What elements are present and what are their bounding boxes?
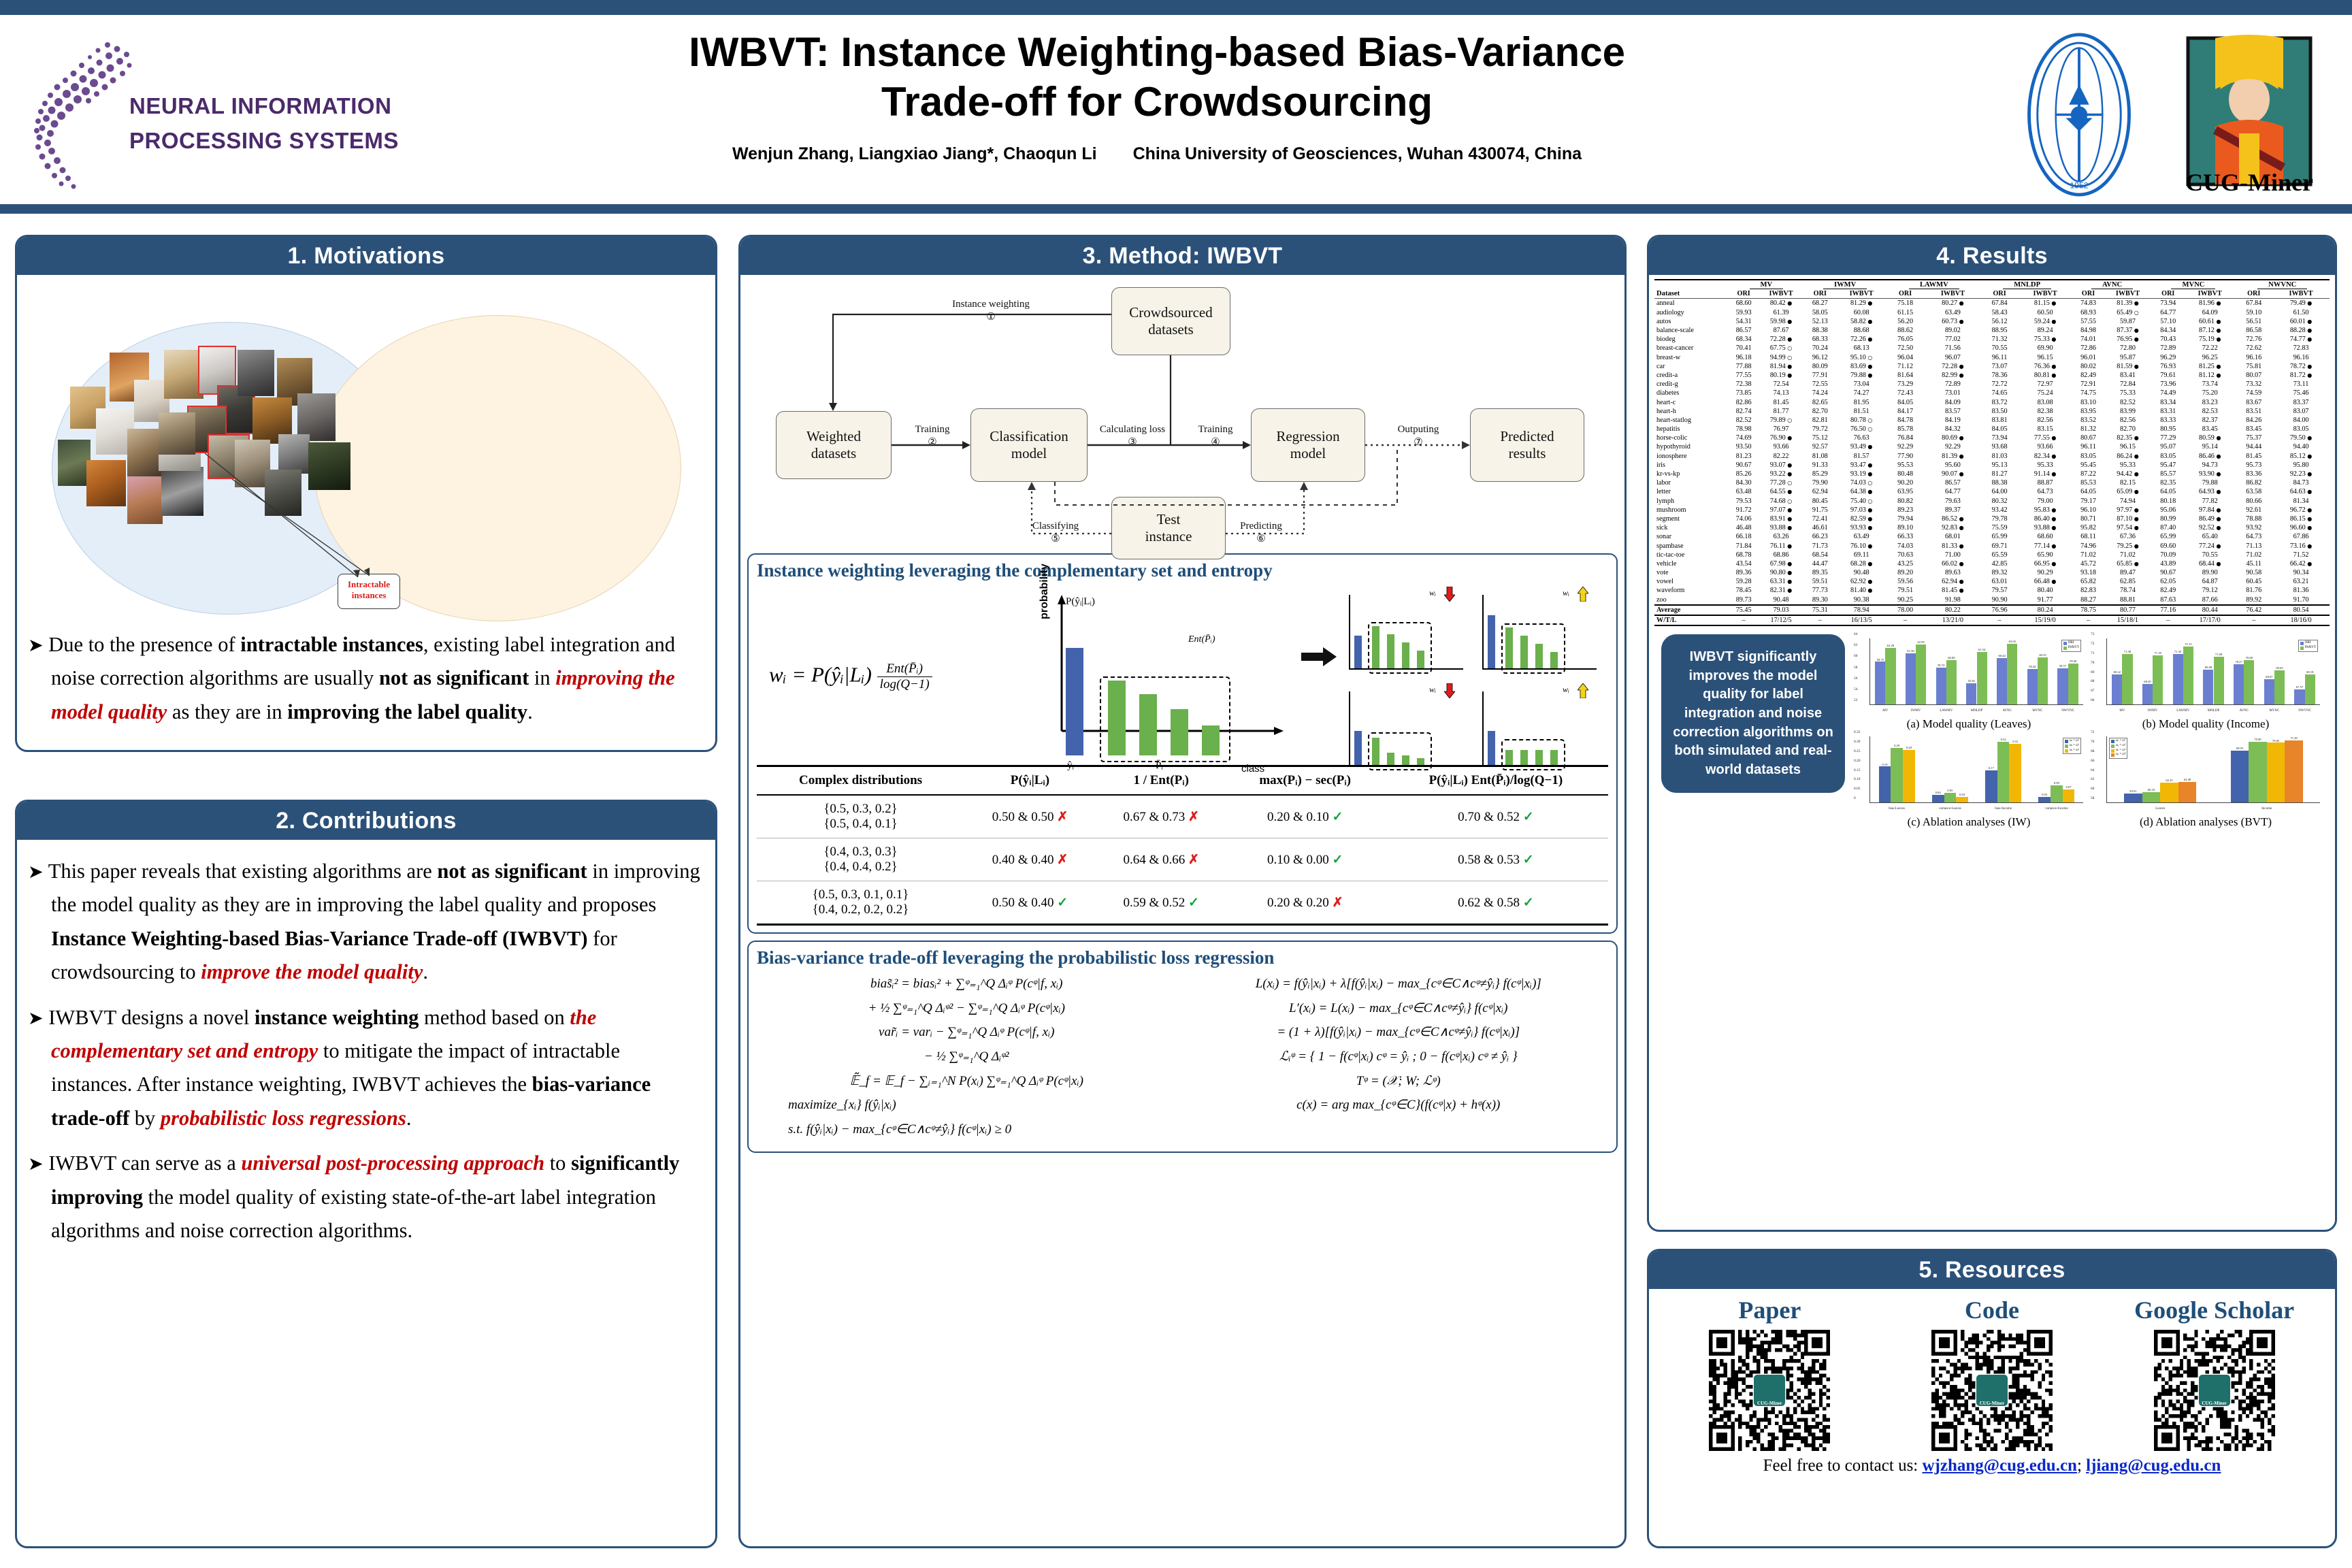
result-cell: 80.69 ● [1924, 434, 1981, 442]
marker-filled-circle: ● [2134, 453, 2139, 459]
marker-filled-circle: ● [1959, 453, 1964, 459]
bar-value-label: 70.27 [2235, 660, 2242, 664]
result-cell: 70.43 [2152, 335, 2185, 344]
marker-filled-circle: ● [1867, 336, 1872, 342]
figure-caption: (d) Ablation analyses (BVT) [2089, 815, 2323, 829]
dataset-name: heart-statlog [1654, 416, 1729, 425]
sub-ori-2: ORI [1803, 289, 1836, 299]
y-tick-label: 54 [1854, 687, 1857, 691]
mini-chart-3: wᵢ [1349, 685, 1470, 766]
bar-ωᵢ = ω³-variance-Leaves [1956, 797, 1968, 802]
marker-open-circle: ○ [1867, 498, 1872, 504]
table-row: iris90.6793.07 ●91.3393.47 ●95.5395.6095… [1654, 461, 2330, 470]
results-lower: IWBVT significantly improves the model q… [1654, 626, 2330, 832]
result-cell: 95.87 [2104, 353, 2151, 362]
result-cell: 87.40 [2152, 523, 2185, 532]
result-cell: 58.05 [1803, 308, 1836, 317]
contact-sep: ; [2077, 1456, 2086, 1475]
resource-paper[interactable]: Paper CUG-Miner [1674, 1296, 1865, 1451]
result-cell: 75.12 [1803, 434, 1836, 442]
qr-label-scholar: CUG-Miner [2202, 1401, 2227, 1406]
bvt-eq-l5: maximize_{xᵢ} f(ŷᵢ|xᵢ) [757, 1096, 1177, 1114]
cd-r2-c2: 0.59 & 0.52 ✓ [1096, 881, 1227, 925]
marker-open-circle: ○ [1867, 417, 1872, 423]
marker-filled-circle: ● [2216, 435, 2221, 441]
bar-IWBVT-MVNC [2274, 670, 2285, 705]
wtl-cell: – [2073, 615, 2104, 625]
result-cell: 64.73 [2235, 532, 2272, 541]
bar-ORI-MVNC [2027, 669, 2038, 704]
wtl-cell: – [1886, 615, 1924, 625]
contribution-bullet-3: ➤ IWBVT can serve as a universal post-pr… [28, 1147, 704, 1247]
result-cell: 84.26 [2235, 416, 2272, 425]
table-row: horse-colic74.6976.90 ●75.1276.6376.8480… [1654, 434, 2330, 442]
result-cell: 77.28 ○ [1759, 478, 1803, 487]
result-cell: 81.32 [2073, 425, 2104, 434]
plot-fig-b: 666768697071727369.2271.38MV68.2071.18IW… [2089, 634, 2323, 716]
group-label-mv: MV [1750, 281, 1784, 289]
result-cell: 96.11 [1982, 353, 2018, 362]
dataset-name: mushroom [1654, 506, 1729, 514]
wtl-cell: – [1803, 615, 1836, 625]
bar-value-label: 71.08 [2215, 653, 2222, 656]
resources-body: Paper CUG-Miner Code CUG-Miner Google Sc… [1649, 1289, 2335, 1475]
legend-item: ωᵢ = ω² [2065, 744, 2079, 749]
result-cell: 95.73 [2235, 461, 2272, 470]
neurips-wordmark: NEURAL INFORMATION PROCESSING SYSTEMS [129, 88, 415, 158]
wtl-cell: – [1982, 615, 2018, 625]
result-cell: 96.16 [2235, 353, 2272, 362]
result-cell: 80.18 [2152, 497, 2185, 506]
mark-check: ✓ [1188, 896, 1199, 910]
result-cell: 96.15 [2018, 353, 2073, 362]
bvt-eq-l4: 𝔼̃_f = 𝔼_f − ∑ᵢ₌₁^N P(xᵢ) ∑ᵠ₌₁^Q Δᵢᵠ P(c… [757, 1073, 1177, 1090]
marker-filled-circle: ● [1787, 489, 1792, 495]
result-cell: 79.72 [1803, 425, 1836, 434]
result-cell: 95.82 [2073, 523, 2104, 532]
plot-fig-a: 5254565860626459.7562.28MV61.3062.95IWMV… [1852, 634, 2086, 716]
result-cell: 84.78 [1886, 416, 1924, 425]
bvt-eq-r1: L′(xᵢ) = L(xᵢ) − max_{cᵠ∈C∧cᵠ≠ŷᵢ} f(cᵠ|x… [1189, 1000, 1609, 1017]
result-cell: 74.06 [1729, 514, 1758, 523]
result-cell: 76.84 [1886, 434, 1924, 442]
legend-label: ωᵢ = ω² [2070, 744, 2079, 749]
result-cell: 77.90 [1886, 452, 1924, 461]
dataset-name: hypothyroid [1654, 442, 1729, 451]
result-cell: 79.88 ● [1836, 371, 1886, 380]
result-cell: 83.45 [2185, 425, 2235, 434]
y-tick-label: 72 [2091, 730, 2094, 734]
result-cell: 79.51 [1886, 586, 1924, 595]
result-cell: 92.61 [2235, 506, 2272, 514]
marker-filled-circle: ● [1787, 300, 1792, 306]
result-cell: 64.77 [2152, 308, 2185, 317]
marker-open-circle: ○ [1787, 355, 1792, 361]
legend: ωᵢ = ω¹ωᵢ = ω²ωᵢ = ω³ [2063, 738, 2081, 754]
bar-ORI-LAWMV [2173, 654, 2183, 704]
cd-r2-c3-val: 0.20 & 0.20 [1267, 896, 1329, 910]
result-cell: 72.83 [2272, 344, 2330, 353]
result-cell: 74.69 [1729, 434, 1758, 442]
marker-filled-circle: ● [2051, 561, 2056, 567]
edge-num-2: ② [928, 437, 936, 448]
result-cell: 82.49 [2073, 371, 2104, 380]
marker-filled-circle: ● [1787, 543, 1792, 549]
legend-label: ωᵢ = ω³ [2070, 749, 2079, 753]
chart-y-axis-label: probability [1039, 563, 1051, 619]
marker-filled-circle: ● [2307, 453, 2312, 459]
marker-filled-circle: ● [1787, 471, 1792, 477]
bar-IWBVT-MV [2122, 654, 2132, 705]
marker-filled-circle: ● [1787, 570, 1792, 576]
cd-r2-c4-val: 0.62 & 0.58 [1458, 896, 1520, 910]
result-cell: 82.31 ● [1759, 586, 1803, 595]
flow-edge-label-6: Predicting ⑥ [1224, 520, 1298, 546]
table-row: audiology59.9361.3958.0560.0861.1563.495… [1654, 308, 2330, 317]
table-row: biodeg68.3472.28 ●68.3372.26 ●76.0577.02… [1654, 335, 2330, 344]
bar-value-label: 71.38 [2124, 650, 2131, 653]
result-cell: 83.41 [2104, 371, 2151, 380]
marker-filled-circle: ● [1959, 561, 1964, 567]
result-cell: 79.12 [2185, 586, 2235, 595]
result-cell: 68.33 [1803, 335, 1836, 344]
result-cell: 65.85 ● [2104, 559, 2151, 568]
bvt-equations: bias̃ᵢ² = biasᵢ² + ∑ᵠ₌₁^Q Δᵢᵠ P(cᵠ|f, xᵢ… [757, 968, 1608, 1145]
bullet-arrow-icon: ➤ [28, 1154, 44, 1175]
result-cell: 81.39 ● [1924, 452, 1981, 461]
result-cell: 83.72 [1982, 397, 2018, 406]
bar-ORI-AVNC [1997, 658, 2007, 704]
result-cell: 94.42 ● [2104, 470, 2151, 478]
result-cell: 93.92 [2235, 523, 2272, 532]
figure-caption: (a) Model quality (Leaves) [1852, 717, 2086, 731]
bar-ORI-MV [1875, 661, 1885, 704]
figure-fig-c: 00.050.100.150.200.250.300.350.190.290.2… [1852, 732, 2086, 829]
result-cell: 59.87 [2104, 317, 2151, 326]
bar-ORI-LAWMV [1936, 668, 1946, 704]
legend-label: IWBVT [2068, 646, 2079, 651]
result-cell: 93.88 ● [2018, 523, 2073, 532]
result-cell: 88.95 [1982, 326, 2018, 335]
bar-value-label: 0.05 [1947, 789, 1953, 792]
result-cell: 75.81 [2235, 362, 2272, 371]
result-cell: 73.74 [2185, 380, 2235, 389]
bar-value-label: 69.68 [2205, 666, 2212, 669]
marker-filled-circle: ● [2216, 489, 2221, 495]
result-cell: 71.02 [2073, 551, 2104, 559]
result-cell: 88.68 [1836, 326, 1886, 335]
result-cell: 56.20 [1886, 317, 1924, 326]
neurips-line1: NEURAL INFORMATION [129, 88, 415, 123]
figure-fig-a: 5254565860626459.7562.28MV61.3062.95IWMV… [1852, 634, 2086, 731]
cb1-b1: not as significant [437, 860, 587, 883]
cd-r1-dist1: {0.4, 0.3, 0.3} [759, 845, 962, 860]
y-tick-label: 68 [2091, 679, 2094, 683]
flow-edge-label-4: Training ④ [1180, 423, 1251, 449]
result-cell: 95.33 [2104, 461, 2151, 470]
marker-filled-circle: ● [1959, 363, 1964, 370]
bar-value-label: 60.09 [1948, 656, 1955, 659]
contributions-body: ➤ This paper reveals that existing algor… [17, 840, 715, 1254]
results-group-iwmv: IWMV [1803, 280, 1886, 289]
result-cell: 84.09 [1924, 397, 1981, 406]
cb2-p2: method based on [419, 1006, 570, 1029]
qr-code-paper[interactable]: CUG-Miner [1709, 1330, 1830, 1451]
cd-r1-dist2: {0.4, 0.4, 0.2} [759, 860, 962, 875]
marker-filled-circle: ● [1867, 444, 1872, 450]
bullet-arrow-icon: ➤ [28, 635, 44, 656]
marker-open-circle: ○ [1787, 417, 1792, 423]
result-cell: 43.89 [2152, 559, 2185, 568]
bar-IWBVT-IWMV [2153, 655, 2163, 704]
average-cell: 75.45 [1729, 605, 1758, 615]
section-contributions: 2. Contributions ➤ This paper reveals th… [15, 800, 717, 1548]
poster-root: NEURAL INFORMATION PROCESSING SYSTEMS IW… [0, 0, 2352, 1568]
dataset-name: kr-vs-kp [1654, 470, 1729, 478]
result-cell: 97.07 ● [1759, 506, 1803, 514]
result-cell: 86.49 ● [2185, 514, 2235, 523]
x-tick-label: MV [1882, 709, 1888, 713]
marker-filled-circle: ● [1867, 462, 1872, 468]
bar-value-label: 71.18 [2155, 651, 2161, 655]
marker-open-circle: ○ [1787, 345, 1792, 351]
marker-filled-circle: ● [1787, 516, 1792, 522]
sub-iwbvt-5: IWBVT [2104, 289, 2151, 299]
marker-filled-circle: ● [1787, 525, 1792, 531]
result-cell: 67.84 [2235, 299, 2272, 308]
result-cell: 88.87 [2018, 478, 2073, 487]
edge-num-6: ⑥ [1256, 534, 1265, 544]
marker-filled-circle: ● [1787, 587, 1792, 593]
result-cell: 71.13 [2235, 541, 2272, 550]
cb1-r1: improve the model quality [201, 960, 423, 983]
result-cell: 75.19 ● [2185, 335, 2235, 344]
result-cell: 93.88 ● [1759, 523, 1803, 532]
flow-edge-label-5: Classifying ⑤ [1018, 520, 1093, 546]
dataset-name: credit-g [1654, 380, 1729, 389]
result-cell: 59.10 [2235, 308, 2272, 317]
dataset-name: anneal [1654, 299, 1729, 308]
result-cell: 59.98 ● [1759, 317, 1803, 326]
result-cell: 86.82 [2235, 478, 2272, 487]
result-cell: 83.07 [2272, 407, 2330, 416]
y-tick-label: 72 [2091, 642, 2094, 646]
marker-filled-circle: ● [1867, 300, 1872, 306]
result-cell: 77.55 ● [2018, 434, 2073, 442]
thumb-dog-7 [86, 460, 126, 506]
result-cell: 82.65 [1803, 397, 1836, 406]
dataset-name: balance-scale [1654, 326, 1729, 335]
result-cell: 74.01 [2073, 335, 2104, 344]
marker-filled-circle: ● [2216, 453, 2221, 459]
result-cell: 79.78 [1982, 514, 2018, 523]
result-cell: 71.52 [2272, 551, 2330, 559]
mini4-weight-label: wᵢ [1563, 685, 1569, 695]
result-cell: 73.01 [1924, 389, 1981, 397]
result-cell: 45.72 [2073, 559, 2104, 568]
result-cell: 81.45 [2235, 452, 2272, 461]
result-cell: 83.50 [1982, 407, 2018, 416]
result-cell: 72.55 [1803, 380, 1836, 389]
bar-ωᵢ = ω¹-Leaves [2124, 794, 2142, 802]
resource-title-scholar: Google Scholar [2119, 1296, 2310, 1324]
flow-edge-label-1: Instance weighting ① [916, 298, 1066, 324]
bar-value-label: 71.20 [2290, 736, 2297, 740]
marker-filled-circle: ● [2216, 300, 2221, 306]
cd-r1-c2-val: 0.64 & 0.66 [1123, 853, 1185, 867]
wtl-cell: – [1729, 615, 1758, 625]
wtl-cell: 17/17/0 [2185, 615, 2235, 625]
marker-filled-circle: ● [1867, 578, 1872, 585]
result-cell: 83.36 [2235, 470, 2272, 478]
y-tick-label: 56 [1854, 676, 1857, 681]
cd-r0-dist1: {0.5, 0.3, 0.2} [759, 802, 962, 817]
result-cell: 75.20 [2185, 389, 2235, 397]
mini-chart-1: wᵢ [1349, 588, 1470, 670]
result-cell: 83.69 ● [1836, 362, 1886, 371]
result-cell: 75.24 [2018, 389, 2073, 397]
marker-filled-circle: ● [1959, 471, 1964, 477]
qr-code-scholar[interactable]: CUG-Miner [2154, 1330, 2275, 1451]
results-subheader-row: ORIIWBVT ORIIWBVT ORIIWBVT ORIIWBVT ORII… [1654, 289, 2330, 299]
plot-axis: 5254565860626459.7562.28MV61.3062.95IWMV… [1869, 638, 2083, 705]
bar-ORI-MVNC [2264, 679, 2274, 704]
result-cell: 66.18 [1729, 532, 1758, 541]
result-cell: 90.67 [1729, 461, 1758, 470]
group-label-nwvnc: NWVNC [2257, 281, 2307, 289]
marker-filled-circle: ● [1867, 318, 1872, 325]
cb2-p1: IWBVT designs a novel [48, 1006, 255, 1029]
dataset-name: vote [1654, 568, 1729, 577]
result-cell: 76.97 [1759, 425, 1803, 434]
plot-fig-c: 00.050.100.150.200.250.300.350.190.290.2… [1852, 732, 2086, 814]
result-cell: 66.95 ● [2018, 559, 2073, 568]
marker-filled-circle: ● [2051, 543, 2056, 549]
result-cell: 78.74 [2104, 586, 2151, 595]
email-link-2[interactable]: ljiang@cug.edu.cn [2086, 1456, 2221, 1475]
result-cell: 96.60 ● [2272, 523, 2330, 532]
arrow-down-red-icon [1444, 683, 1455, 698]
result-cell: 75.59 [1982, 523, 2018, 532]
sub-ori-5: ORI [2073, 289, 2104, 299]
edge-label-instance-weighting: Instance weighting [952, 299, 1030, 310]
marker-filled-circle: ● [1959, 587, 1964, 593]
mark-x: ✗ [1332, 896, 1343, 910]
group-label-lawmv: LAWMV [1909, 281, 1959, 289]
bar-value-label: 58.57 [2059, 664, 2066, 668]
resource-code[interactable]: Code CUG-Miner [1897, 1296, 2087, 1451]
bar-value-label: 61.54 [1978, 648, 1985, 651]
y-tick-label: 0.35 [1854, 730, 1860, 734]
result-cell: 65.99 [1982, 532, 2018, 541]
result-cell: 83.23 [2185, 397, 2235, 406]
average-cell: 78.75 [2073, 605, 2104, 615]
bar-ωᵢ = ω³-Income [2267, 742, 2285, 802]
iwbvt-flowchart: Crowdsourceddatasets Weighteddatasets Cl… [747, 280, 1612, 549]
result-cell: 81.27 [1982, 470, 2018, 478]
intractable-arrows [184, 448, 389, 584]
result-cell: 97.54 ● [2104, 523, 2151, 532]
table-row: heart-h82.7481.7782.7081.5184.1783.5783.… [1654, 407, 2330, 416]
result-cell: 84.05 [1886, 397, 1924, 406]
result-cell: 72.89 [2152, 344, 2185, 353]
result-cell: 84.98 [2073, 326, 2104, 335]
result-cell: 88.81 [2104, 595, 2151, 605]
result-cell: 90.48 [1836, 568, 1886, 577]
result-cell: 83.57 [1924, 407, 1981, 416]
result-cell: 70.55 [1982, 344, 2018, 353]
result-cell: 78.36 [1982, 371, 2018, 380]
cd-r2-c3: 0.20 & 0.20 ✗ [1227, 881, 1384, 925]
result-cell: 81.40 ● [1836, 586, 1886, 595]
result-cell: 95.53 [1886, 461, 1924, 470]
result-cell: 96.16 [2272, 353, 2330, 362]
result-cell: 73.94 [1982, 434, 2018, 442]
thumb-dog-5 [127, 429, 163, 478]
result-cell: 74.94 [2104, 497, 2151, 506]
authors: Wenjun Zhang, Liangxiao Jiang*, Chaoqun … [732, 144, 1097, 163]
result-cell: 45.11 [2235, 559, 2272, 568]
result-cell: 64.38 ● [1836, 487, 1886, 496]
marker-filled-circle: ● [2307, 489, 2312, 495]
email-link-1[interactable]: wjzhang@cug.edu.cn [1923, 1456, 2077, 1475]
result-cell: 93.90 ● [2185, 470, 2235, 478]
table-row: labor84.3077.28 ○79.9074.03 ○90.2086.578… [1654, 478, 2330, 487]
marker-filled-circle: ● [1867, 471, 1872, 477]
cug-miner-label: CUG-Miner [2164, 168, 2334, 197]
bar-ORI-MV [2112, 674, 2122, 705]
result-cell: 86.15 ● [2272, 514, 2330, 523]
cd-th-1: P(ŷᵢ|Lᵢ) [964, 766, 1096, 796]
cd-r0-c4: 0.70 & 0.52 ✓ [1384, 795, 1608, 838]
result-cell: 59.56 [1886, 577, 1924, 586]
mb1-p3: in [529, 666, 555, 689]
result-cell: 92.29 [1924, 442, 1981, 451]
result-cell: 74.03 [1886, 541, 1924, 550]
resource-title-code: Code [1897, 1296, 2087, 1324]
qr-label-code: CUG-Miner [1980, 1401, 2005, 1406]
marker-filled-circle: ● [1787, 336, 1792, 342]
bar-ORI-IWMV [2142, 684, 2153, 704]
result-cell: 93.47 ● [1836, 461, 1886, 470]
plot-axis: 586062646668707259.9160.1862.2562.40Leav… [2106, 736, 2320, 803]
result-cell: 79.89 ○ [1759, 416, 1803, 425]
mark-check: ✓ [1523, 853, 1534, 867]
result-cell: 80.99 [2152, 514, 2185, 523]
result-cell: 80.59 ● [2185, 434, 2235, 442]
arrow-up-yellow-icon [1578, 587, 1588, 602]
result-cell: 72.28 ● [1924, 362, 1981, 371]
results-table: Dataset MV IWMV LAWMV MNLDP AVNC MVNC NW… [1654, 279, 2330, 626]
poster-header: NEURAL INFORMATION PROCESSING SYSTEMS IW… [0, 15, 2352, 204]
result-cell: 89.90 [2185, 568, 2235, 577]
result-cell: 77.82 [2185, 497, 2235, 506]
legend-swatch [2300, 647, 2304, 650]
result-cell: 83.08 [2018, 397, 2073, 406]
y-tick-label: 66 [2091, 759, 2094, 763]
dataset-name: autos [1654, 317, 1729, 326]
results-col-dataset: Dataset [1654, 280, 1729, 299]
result-cell: 77.91 [1803, 371, 1836, 380]
result-cell: 68.44 ● [2185, 559, 2235, 568]
result-cell: 65.99 [2152, 532, 2185, 541]
qr-code-code[interactable]: CUG-Miner [1931, 1330, 2053, 1451]
table-row: hepatitis78.9876.9779.7276.50 ○85.7884.3… [1654, 425, 2330, 434]
result-cell: 74.68 ○ [1759, 497, 1803, 506]
result-cell: 85.57 [2152, 470, 2185, 478]
marker-filled-circle: ● [1867, 587, 1872, 593]
resource-google-scholar[interactable]: Google Scholar CUG-Miner [2119, 1296, 2310, 1451]
